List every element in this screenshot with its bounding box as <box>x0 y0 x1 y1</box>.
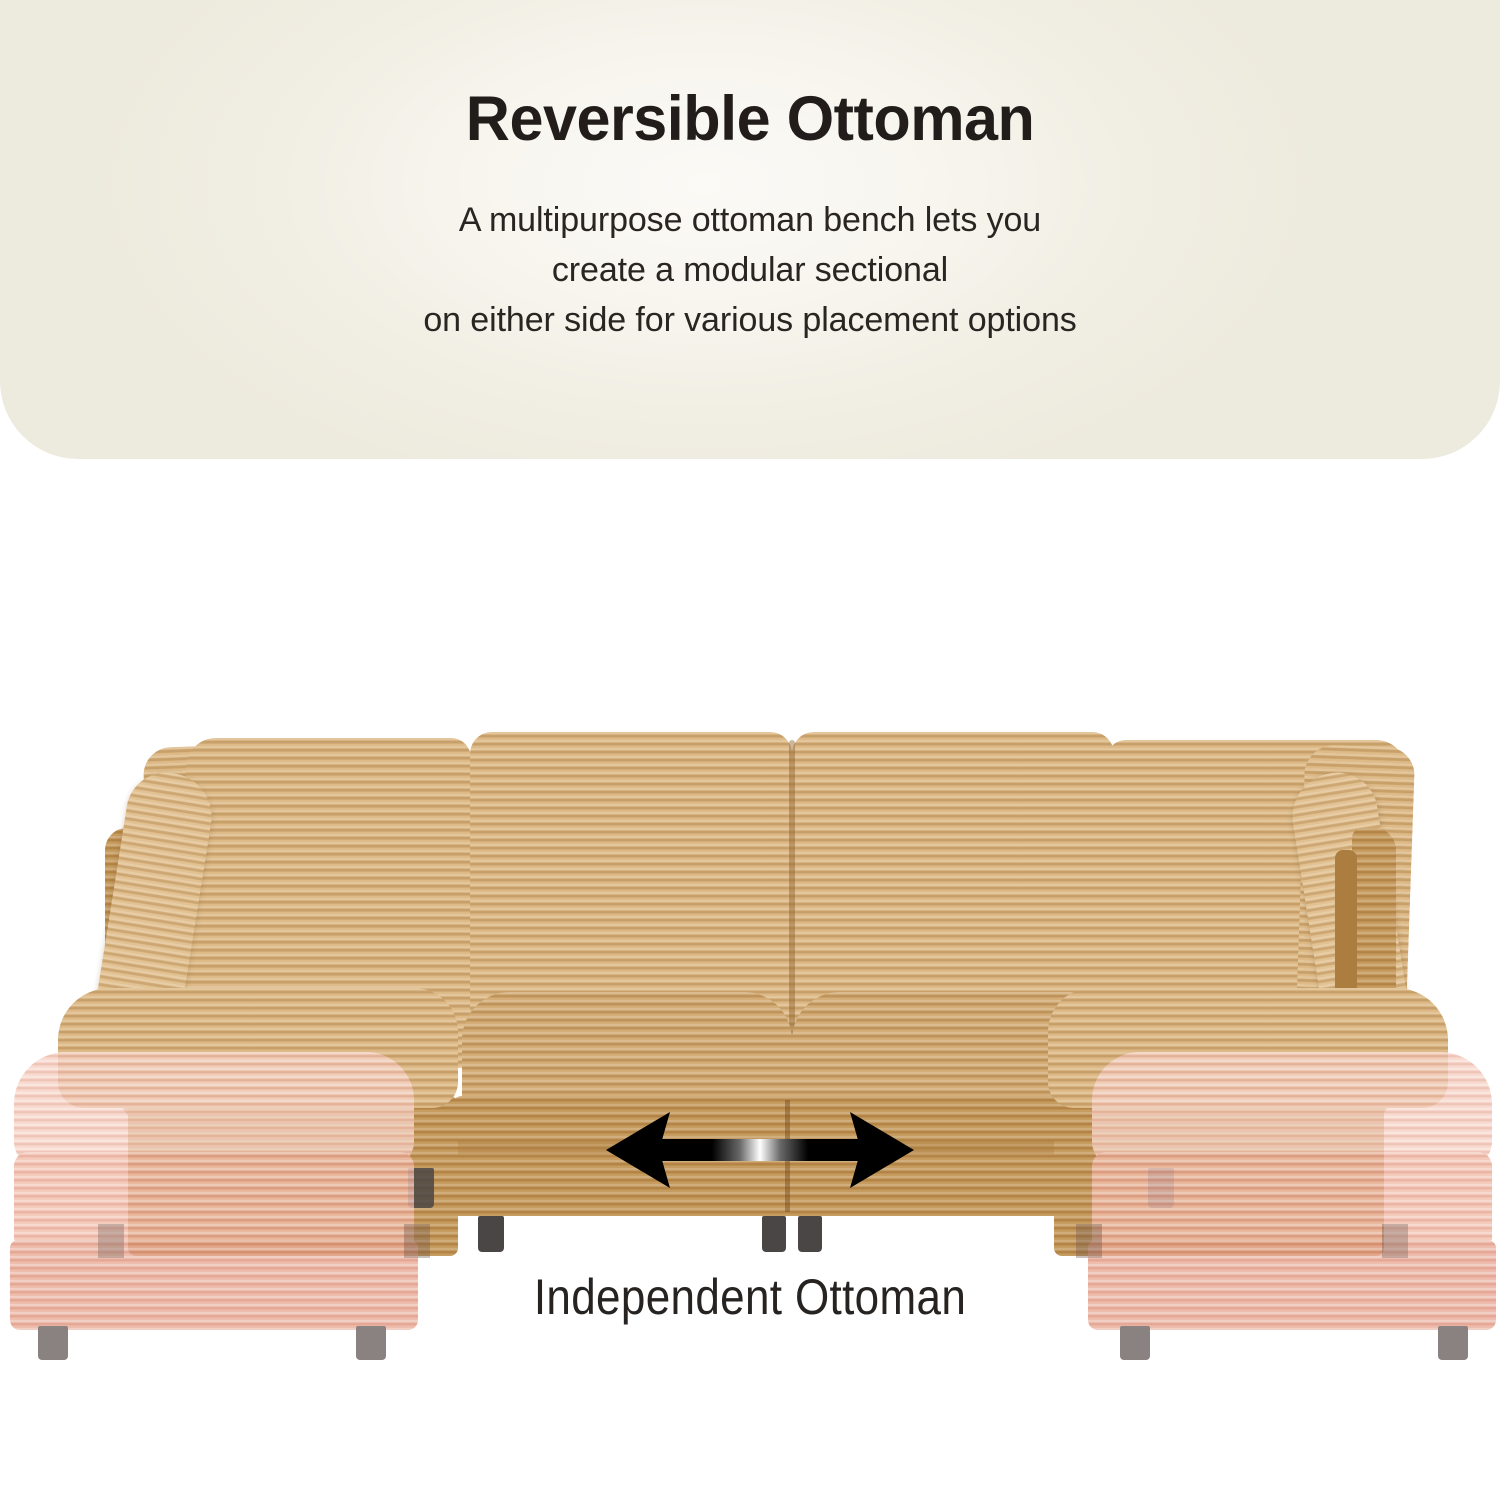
product-feature-card: Reversible Ottoman A multipurpose ottoma… <box>0 0 1500 1500</box>
left-ghost-leg-front <box>38 1326 68 1360</box>
center-sofa-leg-a <box>478 1216 504 1252</box>
reposition-arrow <box>604 1100 916 1200</box>
back-cushion-seam <box>789 740 795 1070</box>
right-ghost-leg-back <box>1120 1326 1150 1360</box>
left-ghost-leg-back <box>356 1326 386 1360</box>
right-ghost-bracket-a <box>1382 1224 1408 1258</box>
left-ghost-top-cushion <box>14 1052 414 1166</box>
left-ghost-mid-slab <box>14 1152 414 1246</box>
right-ghost-bracket-b <box>1076 1224 1102 1258</box>
left-ghost-bracket-b <box>404 1224 430 1258</box>
subtitle-line-2: create a modular sectional <box>423 246 1076 296</box>
center-sofa-leg-c <box>798 1216 822 1252</box>
product-caption: Independent Ottoman <box>90 1268 1410 1326</box>
right-ghost-top-cushion <box>1092 1052 1492 1166</box>
header-panel: Reversible Ottoman A multipurpose ottoma… <box>0 0 1500 459</box>
subtitle-line-3: on either side for various placement opt… <box>423 296 1076 346</box>
subtitle-line-1: A multipurpose ottoman bench lets you <box>423 196 1076 246</box>
subtitle-block: A multipurpose ottoman bench lets you cr… <box>423 196 1076 346</box>
double-headed-arrow-icon <box>604 1100 916 1200</box>
center-sofa-leg-b <box>762 1216 786 1252</box>
left-ghost-bracket-a <box>98 1224 124 1258</box>
right-ghost-mid-slab <box>1092 1152 1492 1246</box>
right-ghost-leg-front <box>1438 1326 1468 1360</box>
page-title: Reversible Ottoman <box>466 86 1035 152</box>
